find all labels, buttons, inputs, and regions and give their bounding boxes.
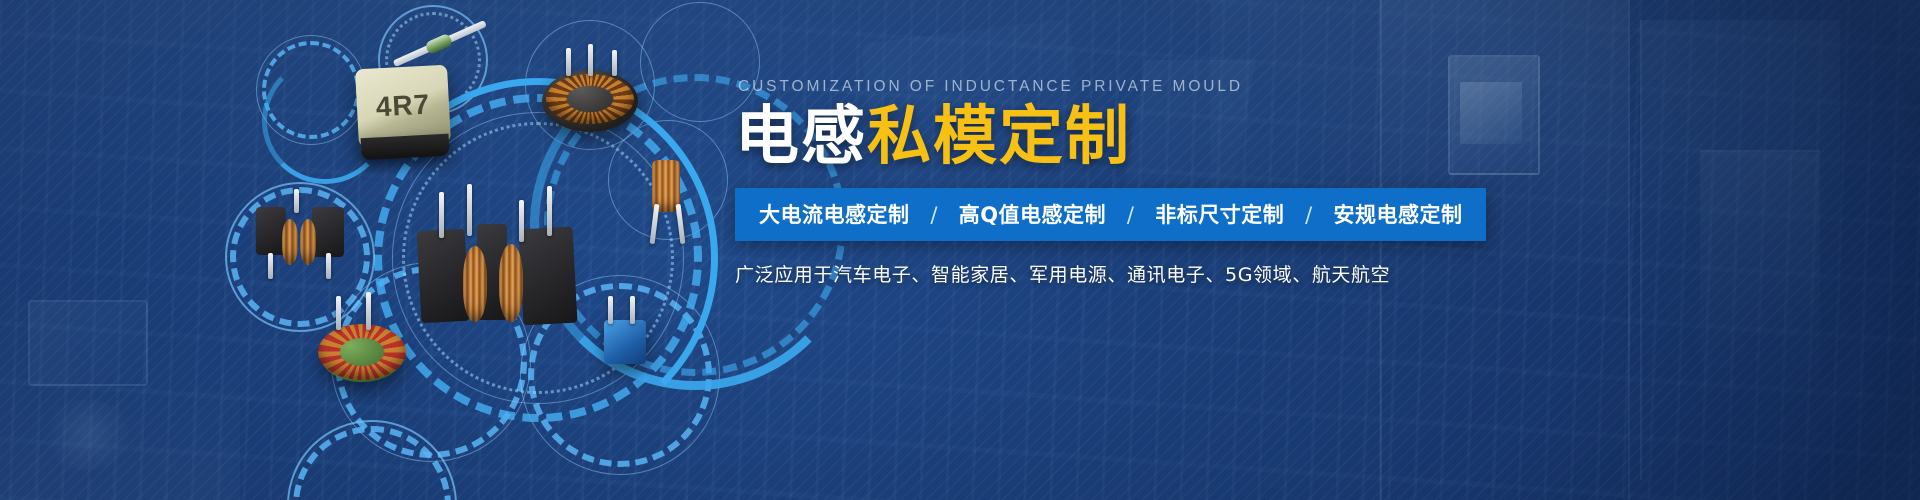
application-tagline: 广泛应用于汽车电子、智能家居、军用电源、通讯电子、5G领域、航天航空 xyxy=(735,260,1575,287)
feature-bar: 大电流电感定制 / 高Q值电感定制 / 非标尺寸定制 / 安规电感定制 xyxy=(735,188,1486,241)
product-hero-banner: 4R7 xyxy=(0,0,1920,500)
feature-item-2: 非标尺寸定制 xyxy=(1155,203,1284,227)
banner-content: CUSTOMIZATION OF INDUCTANCE PRIVATE MOUL… xyxy=(735,78,1575,306)
green-toroidal-inductor xyxy=(310,300,420,395)
inductor-marking-label: 4R7 xyxy=(375,89,431,124)
feature-separator: / xyxy=(930,203,938,227)
feature-separator: / xyxy=(1305,203,1313,227)
blue-radial-inductor xyxy=(578,300,668,380)
common-mode-choke-large xyxy=(415,190,580,350)
feature-item-0: 大电流电感定制 xyxy=(759,203,910,227)
rod-core-inductor xyxy=(630,152,702,244)
title-yellow-part: 私模定制 xyxy=(867,100,1131,174)
title-white-part: 电感 xyxy=(735,100,867,174)
feature-item-3: 安规电感定制 xyxy=(1333,203,1462,227)
common-mode-choke-small xyxy=(250,195,350,275)
toroidal-common-mode-choke xyxy=(536,48,646,138)
feature-separator: / xyxy=(1127,203,1135,227)
banner-eyebrow: CUSTOMIZATION OF INDUCTANCE PRIVATE MOUL… xyxy=(738,78,1575,96)
feature-item-1: 高Q值电感定制 xyxy=(959,203,1106,227)
page-title: 电感私模定制 xyxy=(735,104,1575,171)
